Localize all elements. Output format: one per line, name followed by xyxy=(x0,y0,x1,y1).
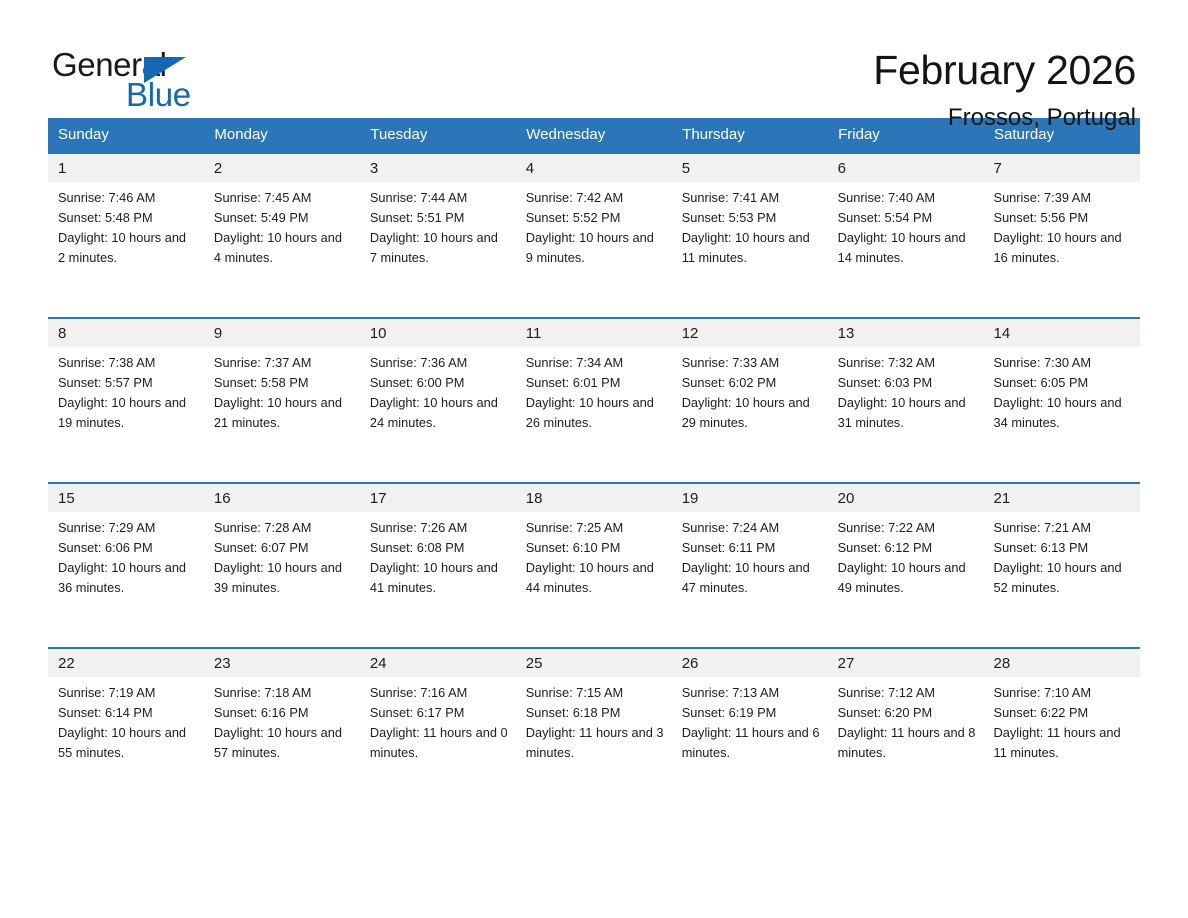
day-number: 22 xyxy=(48,649,204,677)
daylight-text: Daylight: 10 hours and 39 minutes. xyxy=(214,558,352,598)
calendar-week-row: 8Sunrise: 7:38 AMSunset: 5:57 PMDaylight… xyxy=(48,318,1140,483)
day-number: 7 xyxy=(984,154,1140,182)
day-number: 6 xyxy=(828,154,984,182)
day-cell[interactable]: 16Sunrise: 7:28 AMSunset: 6:07 PMDayligh… xyxy=(204,483,360,648)
daylight-text: Daylight: 10 hours and 55 minutes. xyxy=(58,723,196,763)
day-cell[interactable]: 25Sunrise: 7:15 AMSunset: 6:18 PMDayligh… xyxy=(516,648,672,813)
sunrise-text: Sunrise: 7:36 AM xyxy=(370,353,508,373)
day-cell[interactable]: 17Sunrise: 7:26 AMSunset: 6:08 PMDayligh… xyxy=(360,483,516,648)
daylight-text: Daylight: 10 hours and 36 minutes. xyxy=(58,558,196,598)
sunrise-text: Sunrise: 7:32 AM xyxy=(838,353,976,373)
page-title: February 2026 xyxy=(873,46,1136,94)
sunrise-text: Sunrise: 7:42 AM xyxy=(526,188,664,208)
sunrise-text: Sunrise: 7:45 AM xyxy=(214,188,352,208)
sunrise-text: Sunrise: 7:10 AM xyxy=(994,683,1132,703)
daylight-text: Daylight: 10 hours and 47 minutes. xyxy=(682,558,820,598)
sunset-text: Sunset: 5:58 PM xyxy=(214,373,352,393)
day-details: Sunrise: 7:19 AMSunset: 6:14 PMDaylight:… xyxy=(48,677,204,763)
daylight-text: Daylight: 10 hours and 11 minutes. xyxy=(682,228,820,268)
daylight-text: Daylight: 10 hours and 7 minutes. xyxy=(370,228,508,268)
day-details: Sunrise: 7:21 AMSunset: 6:13 PMDaylight:… xyxy=(984,512,1140,598)
day-cell[interactable]: 24Sunrise: 7:16 AMSunset: 6:17 PMDayligh… xyxy=(360,648,516,813)
day-details: Sunrise: 7:24 AMSunset: 6:11 PMDaylight:… xyxy=(672,512,828,598)
day-cell[interactable]: 6Sunrise: 7:40 AMSunset: 5:54 PMDaylight… xyxy=(828,153,984,318)
sunset-text: Sunset: 6:14 PM xyxy=(58,703,196,723)
day-details: Sunrise: 7:29 AMSunset: 6:06 PMDaylight:… xyxy=(48,512,204,598)
daylight-text: Daylight: 11 hours and 11 minutes. xyxy=(994,723,1132,763)
weekday-header-sunday: Sunday xyxy=(48,118,204,153)
sunset-text: Sunset: 6:20 PM xyxy=(838,703,976,723)
daylight-text: Daylight: 10 hours and 31 minutes. xyxy=(838,393,976,433)
sunset-text: Sunset: 6:05 PM xyxy=(994,373,1132,393)
calendar-week-row: 1Sunrise: 7:46 AMSunset: 5:48 PMDaylight… xyxy=(48,153,1140,318)
day-cell[interactable]: 7Sunrise: 7:39 AMSunset: 5:56 PMDaylight… xyxy=(984,153,1140,318)
day-number: 3 xyxy=(360,154,516,182)
sunrise-text: Sunrise: 7:30 AM xyxy=(994,353,1132,373)
day-cell[interactable]: 26Sunrise: 7:13 AMSunset: 6:19 PMDayligh… xyxy=(672,648,828,813)
day-number: 17 xyxy=(360,484,516,512)
day-details: Sunrise: 7:34 AMSunset: 6:01 PMDaylight:… xyxy=(516,347,672,433)
day-details: Sunrise: 7:22 AMSunset: 6:12 PMDaylight:… xyxy=(828,512,984,598)
daylight-text: Daylight: 11 hours and 0 minutes. xyxy=(370,723,508,763)
day-number: 14 xyxy=(984,319,1140,347)
sunset-text: Sunset: 6:03 PM xyxy=(838,373,976,393)
day-cell[interactable]: 5Sunrise: 7:41 AMSunset: 5:53 PMDaylight… xyxy=(672,153,828,318)
sunset-text: Sunset: 6:08 PM xyxy=(370,538,508,558)
sunrise-text: Sunrise: 7:39 AM xyxy=(994,188,1132,208)
day-details: Sunrise: 7:25 AMSunset: 6:10 PMDaylight:… xyxy=(516,512,672,598)
daylight-text: Daylight: 10 hours and 2 minutes. xyxy=(58,228,196,268)
day-details: Sunrise: 7:28 AMSunset: 6:07 PMDaylight:… xyxy=(204,512,360,598)
weekday-header-wednesday: Wednesday xyxy=(516,118,672,153)
sunrise-text: Sunrise: 7:38 AM xyxy=(58,353,196,373)
day-cell[interactable]: 3Sunrise: 7:44 AMSunset: 5:51 PMDaylight… xyxy=(360,153,516,318)
daylight-text: Daylight: 10 hours and 14 minutes. xyxy=(838,228,976,268)
day-cell[interactable]: 2Sunrise: 7:45 AMSunset: 5:49 PMDaylight… xyxy=(204,153,360,318)
day-number: 4 xyxy=(516,154,672,182)
day-details: Sunrise: 7:39 AMSunset: 5:56 PMDaylight:… xyxy=(984,182,1140,268)
sunset-text: Sunset: 6:16 PM xyxy=(214,703,352,723)
daylight-text: Daylight: 10 hours and 49 minutes. xyxy=(838,558,976,598)
sunset-text: Sunset: 6:00 PM xyxy=(370,373,508,393)
sunset-text: Sunset: 5:49 PM xyxy=(214,208,352,228)
sunrise-text: Sunrise: 7:40 AM xyxy=(838,188,976,208)
daylight-text: Daylight: 10 hours and 44 minutes. xyxy=(526,558,664,598)
sunrise-text: Sunrise: 7:34 AM xyxy=(526,353,664,373)
day-details: Sunrise: 7:46 AMSunset: 5:48 PMDaylight:… xyxy=(48,182,204,268)
day-number: 23 xyxy=(204,649,360,677)
sunrise-text: Sunrise: 7:19 AM xyxy=(58,683,196,703)
day-details: Sunrise: 7:36 AMSunset: 6:00 PMDaylight:… xyxy=(360,347,516,433)
sunrise-text: Sunrise: 7:46 AM xyxy=(58,188,196,208)
logo-text-blue: Blue xyxy=(126,78,191,111)
daylight-text: Daylight: 11 hours and 3 minutes. xyxy=(526,723,664,763)
day-details: Sunrise: 7:45 AMSunset: 5:49 PMDaylight:… xyxy=(204,182,360,268)
day-cell[interactable]: 21Sunrise: 7:21 AMSunset: 6:13 PMDayligh… xyxy=(984,483,1140,648)
day-details: Sunrise: 7:33 AMSunset: 6:02 PMDaylight:… xyxy=(672,347,828,433)
day-details: Sunrise: 7:16 AMSunset: 6:17 PMDaylight:… xyxy=(360,677,516,763)
day-cell[interactable]: 19Sunrise: 7:24 AMSunset: 6:11 PMDayligh… xyxy=(672,483,828,648)
day-details: Sunrise: 7:12 AMSunset: 6:20 PMDaylight:… xyxy=(828,677,984,763)
day-number: 26 xyxy=(672,649,828,677)
sunrise-text: Sunrise: 7:44 AM xyxy=(370,188,508,208)
daylight-text: Daylight: 10 hours and 34 minutes. xyxy=(994,393,1132,433)
day-cell[interactable]: 12Sunrise: 7:33 AMSunset: 6:02 PMDayligh… xyxy=(672,318,828,483)
calendar-week-row: 22Sunrise: 7:19 AMSunset: 6:14 PMDayligh… xyxy=(48,648,1140,813)
day-number: 28 xyxy=(984,649,1140,677)
day-number: 11 xyxy=(516,319,672,347)
day-number: 24 xyxy=(360,649,516,677)
sunset-text: Sunset: 6:22 PM xyxy=(994,703,1132,723)
day-number: 1 xyxy=(48,154,204,182)
sunset-text: Sunset: 5:52 PM xyxy=(526,208,664,228)
day-details: Sunrise: 7:18 AMSunset: 6:16 PMDaylight:… xyxy=(204,677,360,763)
page-header: General Blue February 2026 Frossos, Port… xyxy=(48,0,1140,110)
day-number: 19 xyxy=(672,484,828,512)
sunset-text: Sunset: 6:18 PM xyxy=(526,703,664,723)
daylight-text: Daylight: 10 hours and 24 minutes. xyxy=(370,393,508,433)
daylight-text: Daylight: 10 hours and 16 minutes. xyxy=(994,228,1132,268)
sunset-text: Sunset: 6:10 PM xyxy=(526,538,664,558)
day-cell[interactable]: 28Sunrise: 7:10 AMSunset: 6:22 PMDayligh… xyxy=(984,648,1140,813)
sunset-text: Sunset: 6:01 PM xyxy=(526,373,664,393)
day-number: 20 xyxy=(828,484,984,512)
day-cell[interactable]: 11Sunrise: 7:34 AMSunset: 6:01 PMDayligh… xyxy=(516,318,672,483)
day-cell[interactable]: 15Sunrise: 7:29 AMSunset: 6:06 PMDayligh… xyxy=(48,483,204,648)
daylight-text: Daylight: 11 hours and 8 minutes. xyxy=(838,723,976,763)
day-details: Sunrise: 7:30 AMSunset: 6:05 PMDaylight:… xyxy=(984,347,1140,433)
day-cell[interactable]: 23Sunrise: 7:18 AMSunset: 6:16 PMDayligh… xyxy=(204,648,360,813)
sunrise-text: Sunrise: 7:41 AM xyxy=(682,188,820,208)
day-number: 5 xyxy=(672,154,828,182)
daylight-text: Daylight: 10 hours and 41 minutes. xyxy=(370,558,508,598)
daylight-text: Daylight: 10 hours and 29 minutes. xyxy=(682,393,820,433)
day-number: 2 xyxy=(204,154,360,182)
sunset-text: Sunset: 5:53 PM xyxy=(682,208,820,228)
daylight-text: Daylight: 11 hours and 6 minutes. xyxy=(682,723,820,763)
day-cell[interactable]: 8Sunrise: 7:38 AMSunset: 5:57 PMDaylight… xyxy=(48,318,204,483)
day-cell[interactable]: 14Sunrise: 7:30 AMSunset: 6:05 PMDayligh… xyxy=(984,318,1140,483)
sunset-text: Sunset: 6:19 PM xyxy=(682,703,820,723)
day-cell[interactable]: 9Sunrise: 7:37 AMSunset: 5:58 PMDaylight… xyxy=(204,318,360,483)
sunrise-text: Sunrise: 7:33 AM xyxy=(682,353,820,373)
day-details: Sunrise: 7:38 AMSunset: 5:57 PMDaylight:… xyxy=(48,347,204,433)
sunrise-text: Sunrise: 7:22 AM xyxy=(838,518,976,538)
sunset-text: Sunset: 6:17 PM xyxy=(370,703,508,723)
day-cell[interactable]: 13Sunrise: 7:32 AMSunset: 6:03 PMDayligh… xyxy=(828,318,984,483)
sunset-text: Sunset: 5:48 PM xyxy=(58,208,196,228)
day-cell[interactable]: 22Sunrise: 7:19 AMSunset: 6:14 PMDayligh… xyxy=(48,648,204,813)
day-number: 9 xyxy=(204,319,360,347)
daylight-text: Daylight: 10 hours and 9 minutes. xyxy=(526,228,664,268)
sunrise-text: Sunrise: 7:16 AM xyxy=(370,683,508,703)
sunset-text: Sunset: 5:51 PM xyxy=(370,208,508,228)
sunset-text: Sunset: 5:57 PM xyxy=(58,373,196,393)
day-details: Sunrise: 7:26 AMSunset: 6:08 PMDaylight:… xyxy=(360,512,516,598)
sunrise-text: Sunrise: 7:37 AM xyxy=(214,353,352,373)
day-details: Sunrise: 7:37 AMSunset: 5:58 PMDaylight:… xyxy=(204,347,360,433)
day-number: 27 xyxy=(828,649,984,677)
sunset-text: Sunset: 6:12 PM xyxy=(838,538,976,558)
sunrise-text: Sunrise: 7:28 AM xyxy=(214,518,352,538)
day-number: 21 xyxy=(984,484,1140,512)
sunrise-text: Sunrise: 7:21 AM xyxy=(994,518,1132,538)
day-details: Sunrise: 7:42 AMSunset: 5:52 PMDaylight:… xyxy=(516,182,672,268)
generalblue-logo[interactable]: General Blue xyxy=(48,46,198,112)
day-details: Sunrise: 7:40 AMSunset: 5:54 PMDaylight:… xyxy=(828,182,984,268)
day-cell[interactable]: 18Sunrise: 7:25 AMSunset: 6:10 PMDayligh… xyxy=(516,483,672,648)
day-details: Sunrise: 7:44 AMSunset: 5:51 PMDaylight:… xyxy=(360,182,516,268)
day-details: Sunrise: 7:13 AMSunset: 6:19 PMDaylight:… xyxy=(672,677,828,763)
sunrise-text: Sunrise: 7:25 AM xyxy=(526,518,664,538)
day-details: Sunrise: 7:32 AMSunset: 6:03 PMDaylight:… xyxy=(828,347,984,433)
day-details: Sunrise: 7:41 AMSunset: 5:53 PMDaylight:… xyxy=(672,182,828,268)
day-cell[interactable]: 27Sunrise: 7:12 AMSunset: 6:20 PMDayligh… xyxy=(828,648,984,813)
day-number: 13 xyxy=(828,319,984,347)
title-block: February 2026 Frossos, Portugal xyxy=(873,46,1140,136)
sunset-text: Sunset: 5:54 PM xyxy=(838,208,976,228)
daylight-text: Daylight: 10 hours and 4 minutes. xyxy=(214,228,352,268)
day-number: 18 xyxy=(516,484,672,512)
sunrise-text: Sunrise: 7:29 AM xyxy=(58,518,196,538)
sunset-text: Sunset: 6:11 PM xyxy=(682,538,820,558)
sunrise-text: Sunrise: 7:18 AM xyxy=(214,683,352,703)
day-cell[interactable]: 10Sunrise: 7:36 AMSunset: 6:00 PMDayligh… xyxy=(360,318,516,483)
daylight-text: Daylight: 10 hours and 57 minutes. xyxy=(214,723,352,763)
day-details: Sunrise: 7:15 AMSunset: 6:18 PMDaylight:… xyxy=(516,677,672,763)
day-cell[interactable]: 20Sunrise: 7:22 AMSunset: 6:12 PMDayligh… xyxy=(828,483,984,648)
sunset-text: Sunset: 5:56 PM xyxy=(994,208,1132,228)
day-number: 16 xyxy=(204,484,360,512)
sunset-text: Sunset: 6:13 PM xyxy=(994,538,1132,558)
day-number: 10 xyxy=(360,319,516,347)
day-cell[interactable]: 1Sunrise: 7:46 AMSunset: 5:48 PMDaylight… xyxy=(48,153,204,318)
daylight-text: Daylight: 10 hours and 26 minutes. xyxy=(526,393,664,433)
sunrise-text: Sunrise: 7:26 AM xyxy=(370,518,508,538)
daylight-text: Daylight: 10 hours and 21 minutes. xyxy=(214,393,352,433)
sunset-text: Sunset: 6:02 PM xyxy=(682,373,820,393)
day-number: 15 xyxy=(48,484,204,512)
sunrise-text: Sunrise: 7:15 AM xyxy=(526,683,664,703)
day-number: 8 xyxy=(48,319,204,347)
daylight-text: Daylight: 10 hours and 19 minutes. xyxy=(58,393,196,433)
sunset-text: Sunset: 6:06 PM xyxy=(58,538,196,558)
sunrise-text: Sunrise: 7:24 AM xyxy=(682,518,820,538)
weekday-header-thursday: Thursday xyxy=(672,118,828,153)
sunset-text: Sunset: 6:07 PM xyxy=(214,538,352,558)
sunrise-text: Sunrise: 7:12 AM xyxy=(838,683,976,703)
day-details: Sunrise: 7:10 AMSunset: 6:22 PMDaylight:… xyxy=(984,677,1140,763)
weekday-header-tuesday: Tuesday xyxy=(360,118,516,153)
sunrise-sunset-calendar: Sunday Monday Tuesday Wednesday Thursday… xyxy=(48,118,1140,813)
weekday-header-monday: Monday xyxy=(204,118,360,153)
calendar-body: 1Sunrise: 7:46 AMSunset: 5:48 PMDaylight… xyxy=(48,153,1140,813)
day-number: 12 xyxy=(672,319,828,347)
calendar-page: General Blue February 2026 Frossos, Port… xyxy=(0,0,1188,918)
sunrise-text: Sunrise: 7:13 AM xyxy=(682,683,820,703)
calendar-week-row: 15Sunrise: 7:29 AMSunset: 6:06 PMDayligh… xyxy=(48,483,1140,648)
daylight-text: Daylight: 10 hours and 52 minutes. xyxy=(994,558,1132,598)
day-cell[interactable]: 4Sunrise: 7:42 AMSunset: 5:52 PMDaylight… xyxy=(516,153,672,318)
day-number: 25 xyxy=(516,649,672,677)
